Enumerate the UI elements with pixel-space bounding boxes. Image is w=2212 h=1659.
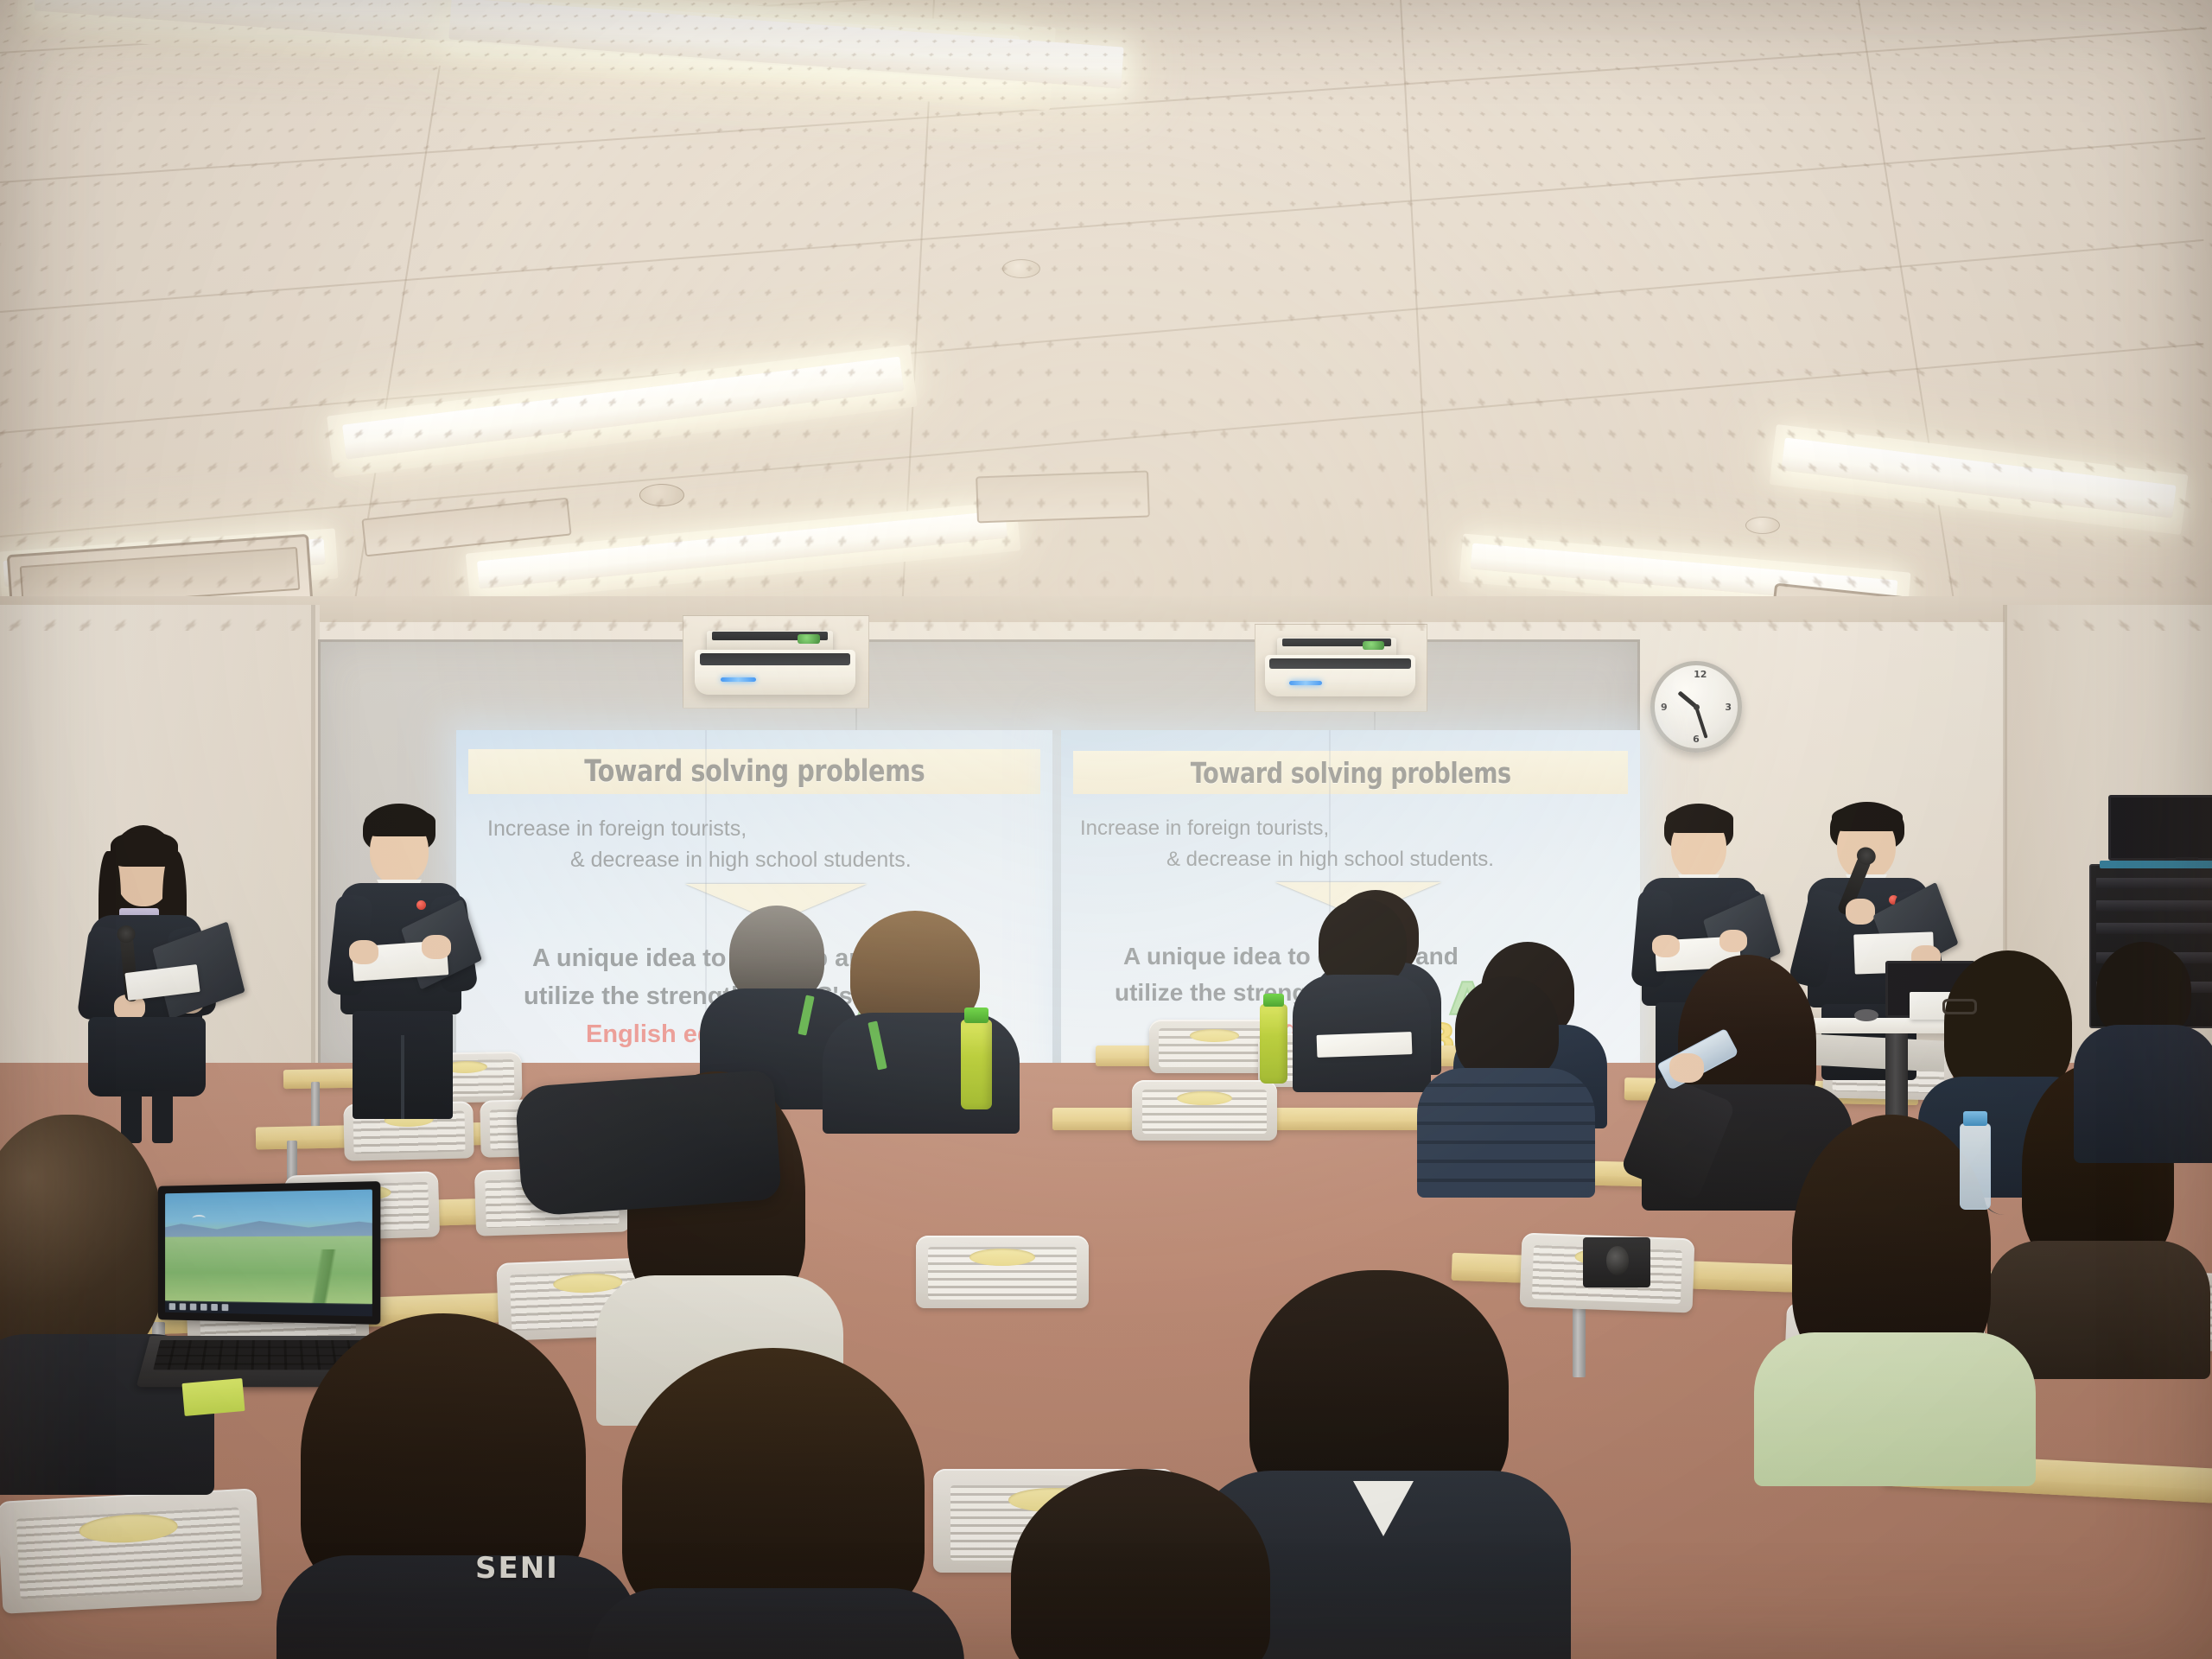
audience-member-puffer [1417, 976, 1599, 1192]
chair[interactable] [0, 1488, 262, 1614]
slide-line1-right: Increase in foreign tourists, [1080, 817, 1329, 841]
laptop-wallpaper [165, 1190, 372, 1305]
presenter-2-hand-right [422, 935, 451, 959]
ac-vent [700, 653, 851, 665]
ceiling-vent-center [976, 471, 1150, 524]
presenter-4-hand-mic [1846, 899, 1875, 925]
taskbar-icon[interactable] [200, 1304, 207, 1311]
clock-pip-12: 12 [1694, 669, 1707, 680]
water-bottle-desk[interactable] [1960, 1123, 1991, 1210]
presenter-2-trouser-split [401, 1035, 404, 1119]
taskbar-icon[interactable] [222, 1304, 229, 1311]
classroom-presentation-photo: 12 3 6 9 Toward solving problems Increas… [0, 0, 2212, 1659]
slide-line1-left: Increase in foreign tourists, [487, 817, 747, 842]
slide-title-left: Toward solving problems [584, 754, 925, 789]
slide-title-band-right: Toward solving problems [1073, 751, 1628, 794]
presenter-1 [69, 825, 251, 1110]
projector-right [1277, 638, 1396, 657]
wallpaper-path [249, 1249, 372, 1305]
wall-ac-right [1265, 655, 1415, 696]
chair[interactable] [1132, 1080, 1277, 1141]
presenter-2-lapel-pin [416, 900, 426, 910]
rack-unit-2 [2096, 900, 2212, 912]
presenter-2-hand-left [349, 940, 378, 964]
audience-member-mint-sweater [1754, 1115, 2039, 1478]
audience-member-foreground-a [276, 1313, 639, 1659]
wall-ac-left [695, 650, 855, 695]
sticky-note [181, 1378, 245, 1416]
camera-on-desk[interactable] [1583, 1237, 1650, 1287]
green-tea-bottle-2[interactable] [1260, 1004, 1287, 1084]
audience-hand [1669, 1053, 1704, 1083]
ceiling [0, 0, 2212, 631]
rack-unit-1 [2096, 878, 2212, 889]
green-tea-bottle-1-cap [964, 1007, 988, 1023]
audience-hair [1319, 899, 1407, 987]
audience-hair [1455, 976, 1559, 1082]
presenter-4-hair-fringe [1832, 805, 1903, 831]
papers-on-desk [1317, 1032, 1413, 1058]
presenter-1-skirt [88, 1017, 206, 1096]
taskbar-icon[interactable] [180, 1303, 186, 1310]
podium-mouse[interactable] [1854, 1009, 1878, 1021]
audience-mint-sweater [1754, 1332, 2036, 1486]
taskbar-icon[interactable] [211, 1304, 218, 1311]
chair[interactable] [916, 1236, 1089, 1308]
taskbar-icon[interactable] [190, 1304, 196, 1311]
ac-vent-2 [1269, 658, 1411, 669]
presenter-3-hand-right [1719, 930, 1747, 952]
green-tea-bottle-2-cap [1263, 994, 1284, 1007]
laptop-screen[interactable] [158, 1181, 381, 1325]
jacket-on-chair [514, 1070, 782, 1217]
clock-pip-3: 3 [1725, 702, 1732, 713]
presenter-2-hair-fringe [365, 809, 435, 836]
water-bottle-desk-cap [1963, 1111, 1987, 1126]
ac-status-led [721, 677, 756, 682]
projector-lens-2 [1363, 641, 1384, 650]
audience-member-mid-center [1289, 899, 1436, 1089]
desk-leg [311, 1082, 320, 1132]
wallpaper-bird [193, 1215, 206, 1222]
presenter-3-hair-fringe [1666, 807, 1733, 833]
ceiling-speaker-1 [639, 484, 684, 506]
audience-member-foreground-b [588, 1348, 968, 1659]
clock-center-pin [1694, 704, 1700, 710]
projector-left [707, 631, 833, 652]
rack-top-item [2100, 861, 2212, 868]
audience-member-front-right-suit [2074, 942, 2212, 1166]
slide-title-right: Toward solving problems [1191, 756, 1511, 790]
ceiling-sensor-2 [1745, 517, 1780, 534]
audience-torso [588, 1588, 964, 1659]
audience-hair-curly [0, 1115, 164, 1365]
green-tea-bottle-1[interactable] [961, 1020, 992, 1109]
clock-pip-6: 6 [1693, 734, 1700, 745]
audience-glasses-icon [1942, 999, 1977, 1014]
rack-monitor [2108, 795, 2212, 861]
audience-hair [1011, 1469, 1270, 1659]
presenter-2 [327, 804, 491, 1115]
slide-line2-left: & decrease in high school students. [570, 848, 912, 873]
clock-pip-9: 9 [1661, 702, 1668, 713]
rack-unit-3 [2096, 923, 2212, 934]
audience-member-foreground-right [985, 1469, 1313, 1659]
garment-text-label: SENI [475, 1551, 559, 1586]
audience-hair-long [622, 1348, 925, 1624]
taskbar-icon[interactable] [169, 1303, 175, 1310]
projector-lens [798, 634, 820, 644]
slide-title-band-left: Toward solving problems [468, 749, 1040, 794]
ceiling-sensor-1 [1002, 259, 1040, 278]
audience-torso [2074, 1025, 2212, 1163]
ac-status-led-2 [1289, 681, 1322, 685]
audience-puffer-jacket [1417, 1068, 1595, 1198]
audience-torso [276, 1555, 638, 1659]
wall-clock: 12 3 6 9 [1650, 661, 1742, 753]
